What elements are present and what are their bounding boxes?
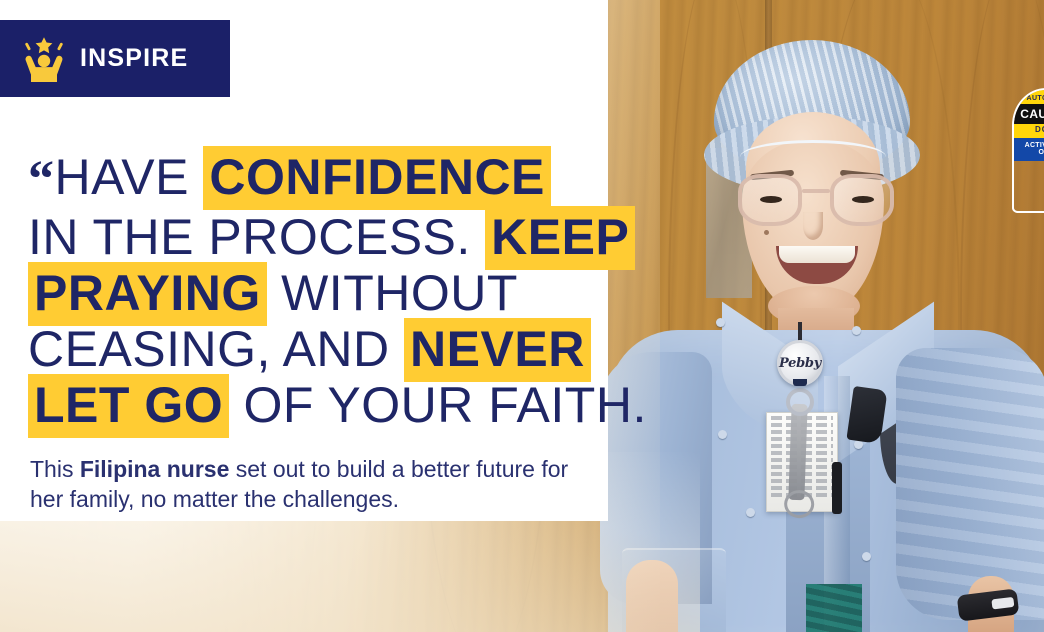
quote-block: “HAVE CONFIDENCE IN THE PROCESS. KEEP PR… — [28, 152, 628, 436]
quote-highlight-text: CONFIDENCE — [203, 146, 551, 210]
teeth — [779, 246, 855, 263]
jacket-button — [862, 552, 871, 561]
cap-band — [740, 140, 886, 174]
open-quote-mark: “ — [28, 151, 55, 208]
quote-line: PRAYING WITHOUT — [28, 268, 628, 318]
inspire-badge-label: INSPIRE — [80, 44, 188, 73]
nose — [803, 212, 823, 240]
scissors-icon — [788, 404, 807, 500]
subtitle-bold: Filipina nurse — [80, 456, 230, 482]
glasses-bridge — [802, 189, 830, 193]
quote-line: CEASING, AND NEVER — [28, 324, 628, 374]
quote-line: IN THE PROCESS. KEEP — [28, 212, 628, 262]
badge-clip-ring — [786, 388, 814, 416]
quote-plain-text: CEASING, AND — [28, 321, 404, 377]
quote-line: “HAVE CONFIDENCE — [28, 152, 628, 206]
inspire-person-star-icon — [22, 36, 66, 82]
eye — [852, 196, 874, 203]
face-mole — [764, 230, 769, 235]
quote-highlight-text: NEVER — [404, 318, 591, 382]
badge-reel-tab — [793, 379, 807, 386]
quote-highlight-text: LET GO — [28, 374, 229, 438]
quote-highlight-text: KEEP — [485, 206, 635, 270]
jacket-button — [746, 508, 755, 517]
quote-plain-text: HAVE — [55, 149, 204, 205]
jacket-button — [716, 318, 725, 327]
jacket-button — [852, 326, 861, 335]
quote-plain-text: IN THE PROCESS. — [28, 209, 485, 265]
teal-garment-peek — [806, 584, 862, 632]
jacket-sleeve-right — [896, 348, 1044, 620]
subtitle-text: This Filipina nurse set out to build a b… — [30, 455, 590, 515]
jacket-button — [718, 430, 727, 439]
quote-line: LET GO OF YOUR FAITH. — [28, 380, 628, 430]
pen-clip — [832, 462, 842, 514]
inspire-quote-poster: AUTOMATIC CAUTION DOOR ACTIVATE TO OPEN — [0, 0, 1044, 632]
quote-plain-text: OF YOUR FAITH. — [229, 377, 647, 433]
inspire-badge: INSPIRE — [0, 20, 230, 97]
subtitle-segment-1: This — [30, 456, 80, 482]
eye — [760, 196, 782, 203]
quote-highlight-text: PRAYING — [28, 262, 267, 326]
badge-reel-name: Pebby — [779, 356, 821, 371]
quote-plain-text: WITHOUT — [267, 265, 518, 321]
